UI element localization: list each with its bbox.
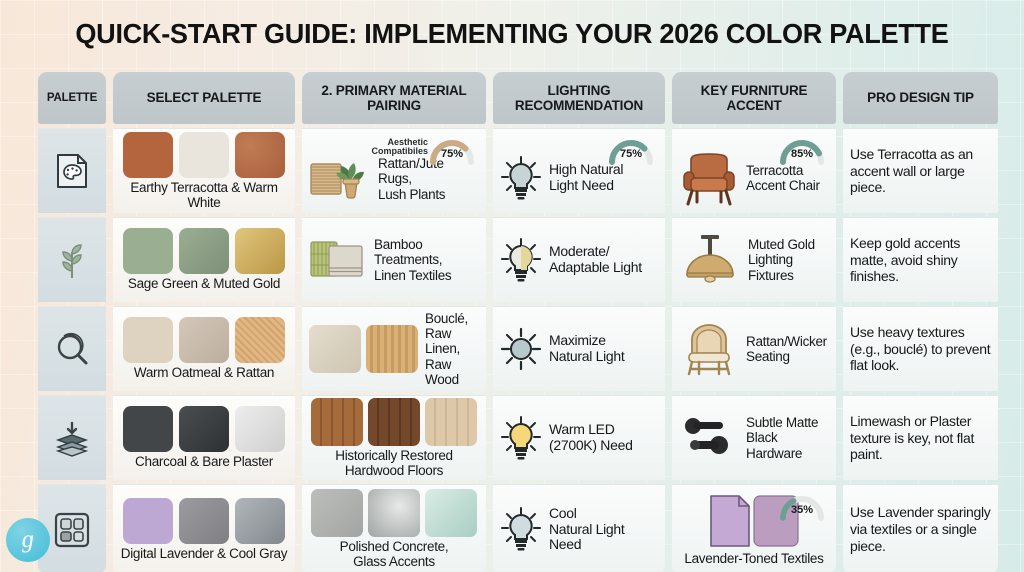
palette-icon-cell [38,395,106,480]
gauge-value: 85% [776,148,828,160]
furniture-gauge: 85% [776,137,828,167]
material-pairing-cell: Historically Restored Hardwood Floors [302,395,486,480]
pro-tip-text: Use Terracotta as an accent wall or larg… [850,146,991,196]
lighting-cell: Warm LED (2700K) Need [493,395,665,480]
leaf-sprig-icon [54,240,90,280]
furniture-cell: Rattan/Wicker Seating [672,306,836,391]
swatch-2[interactable] [179,317,229,363]
bamboo-linen-icon [309,234,367,286]
logo-glyph: ɡ [22,526,35,554]
swatch-2[interactable] [179,132,229,178]
lighting-cell: 75%High Natural Light Need [493,128,665,213]
pro-tip-cell: Use Lavender sparingly via textiles or a… [843,484,998,572]
jute-rug-plant-icon [309,150,371,208]
material-label: Bamboo Treatments, Linen Textiles [374,237,451,282]
table-row: Charcoal & Bare PlasterHistorically Rest… [38,395,986,480]
palette-icon-cell [38,484,106,572]
select-palette-cell[interactable]: Charcoal & Bare Plaster [113,395,295,480]
furniture-cell: Muted Gold Lighting Fixtures [672,217,836,302]
pro-tip-text: Use Lavender sparingly via textiles or a… [850,504,991,554]
furniture-label: Lavender-Toned Textiles [684,552,823,567]
furniture-cell: 35%Lavender-Toned Textiles [672,484,836,572]
table-row: Sage Green & Muted GoldBamboo Treatments… [38,217,986,302]
palette-name: Charcoal & Bare Plaster [135,455,273,470]
color-swatches [120,132,288,178]
lighting-label: Cool Natural Light Need [549,506,624,553]
palette-icon-cell [38,128,106,213]
color-swatches [120,317,288,363]
gauge-value: 75% [426,148,478,160]
lighting-label: Maximize Natural Light [549,333,624,364]
gauge-value: 35% [776,504,828,516]
furniture-label: Muted Gold Lighting Fixtures [748,237,815,282]
lighting-label: Moderate/ Adaptable Light [549,244,642,275]
color-swatches [120,406,288,452]
column-header-select-palette: SELECT PALETTE [113,72,295,124]
palette-icon-cell [38,217,106,302]
color-swatches [120,228,288,274]
swatch-1[interactable] [123,132,173,178]
material-label: Historically Restored Hardwood Floors [335,449,453,478]
swatch-1[interactable] [123,406,173,452]
furniture-cell: 85%Terracotta Accent Chair [672,128,836,213]
guide-table: PALETTE SELECT PALETTE 2. PRIMARY MATERI… [38,72,986,572]
palette-name: Warm Oatmeal & Rattan [134,366,274,381]
lighting-label: Warm LED (2700K) Need [549,422,633,453]
swatch-2[interactable] [179,228,229,274]
furniture-label: Terracotta Accent Chair [746,163,820,193]
table-row: Digital Lavender & Cool GrayPolished Con… [38,484,986,572]
table-row: Earthy Terracotta & Warm WhiteAesthetic … [38,128,986,213]
bulb-bright-icon [500,155,542,201]
lighting-cell: Moderate/ Adaptable Light [493,217,665,302]
grid-squares-icon [53,511,91,549]
door-handle-icon [679,414,739,462]
bulb-half-icon [500,237,542,283]
column-header-primary-material-pairing: 2. PRIMARY MATERIAL PAIRING [302,72,486,124]
bulb-cool-icon [500,506,542,552]
swatch-3[interactable] [235,498,285,544]
material-pairing-cell: Polished Concrete, Glass Accents [302,484,486,572]
column-header-pro-design-tip: PRO DESIGN TIP [843,72,998,124]
gauge-value: 75% [605,148,657,160]
material-pairing-cell: Aesthetic Compatibiles75%Rattan/Jute Rug… [302,128,486,213]
aesthetic-compatibility-gauge: 75% [426,137,478,167]
palette-icon-cell [38,306,106,391]
material-pairing-cell: Bamboo Treatments, Linen Textiles [302,217,486,302]
column-header-palette: PALETTE [38,72,106,124]
swatch-3[interactable] [235,132,285,178]
select-palette-cell[interactable]: Warm Oatmeal & Rattan [113,306,295,391]
swatch-1[interactable] [123,317,173,363]
palette-name: Earthy Terracotta & Warm White [130,181,277,210]
concrete-glass-icon [311,489,477,537]
table-header-row: PALETTE SELECT PALETTE 2. PRIMARY MATERI… [38,72,986,124]
pro-tip-cell: Use Terracotta as an accent wall or larg… [843,128,998,213]
pendant-lamp-icon [679,233,741,287]
pro-tip-text: Limewash or Plaster texture is key, not … [850,413,991,463]
lighting-cell: Maximize Natural Light [493,306,665,391]
swatch-2[interactable] [179,498,229,544]
furniture-cell: Subtle Matte Black Hardware [672,395,836,480]
pro-tip-text: Use heavy textures (e.g., bouclé) to pre… [850,324,991,374]
sun-icon [500,327,542,371]
material-label: Polished Concrete, Glass Accents [340,540,449,569]
pro-tip-text: Keep gold accents matte, avoid shiny fin… [850,235,991,285]
color-swatches [120,498,288,544]
select-palette-cell[interactable]: Digital Lavender & Cool Gray [113,484,295,572]
palette-document-icon [55,152,89,190]
lighting-label: High Natural Light Need [549,162,623,193]
swatch-3[interactable] [235,406,285,452]
furniture-label: Rattan/Wicker Seating [746,334,827,364]
swatch-3[interactable] [235,317,285,363]
lighting-cell: Cool Natural Light Need [493,484,665,572]
palette-name: Digital Lavender & Cool Gray [121,547,287,562]
pro-tip-cell: Use heavy textures (e.g., bouclé) to pre… [843,306,998,391]
boucle-wood-icon [309,325,418,373]
swatch-3[interactable] [235,228,285,274]
swatch-2[interactable] [179,406,229,452]
brand-logo: ɡ [6,518,50,562]
gauge-label: Aesthetic Compatibiles [356,138,428,157]
furniture-label: Subtle Matte Black Hardware [746,415,818,460]
wicker-chair-icon [679,321,739,377]
furniture-gauge: 35% [776,493,828,523]
select-palette-cell[interactable]: Sage Green & Muted Gold [113,217,295,302]
hardwood-floor-icon [311,398,477,446]
pro-tip-cell: Limewash or Plaster texture is key, not … [843,395,998,480]
swatch-1[interactable] [123,498,173,544]
swatch-1[interactable] [123,228,173,274]
column-header-key-furniture-accent: KEY FURNITURE ACCENT [672,72,836,124]
palette-name: Sage Green & Muted Gold [128,277,280,292]
lighting-gauge: 75% [605,137,657,167]
pro-tip-cell: Keep gold accents matte, avoid shiny fin… [843,217,998,302]
material-pairing-cell: Bouclé, Raw Linen, Raw Wood [302,306,486,391]
magnifier-texture-icon [52,330,92,368]
select-palette-cell[interactable]: Earthy Terracotta & Warm White [113,128,295,213]
table-row: Warm Oatmeal & RattanBouclé, Raw Linen, … [38,306,986,391]
page-title: QUICK-START GUIDE: IMPLEMENTING YOUR 202… [8,18,1017,50]
bulb-warm-icon [500,415,542,461]
column-header-lighting-recommendation: LIGHTING RECOMMENDATION [493,72,665,124]
armchair-icon [679,150,739,206]
material-label: Bouclé, Raw Linen, Raw Wood [425,311,479,387]
layers-down-icon [52,419,92,457]
